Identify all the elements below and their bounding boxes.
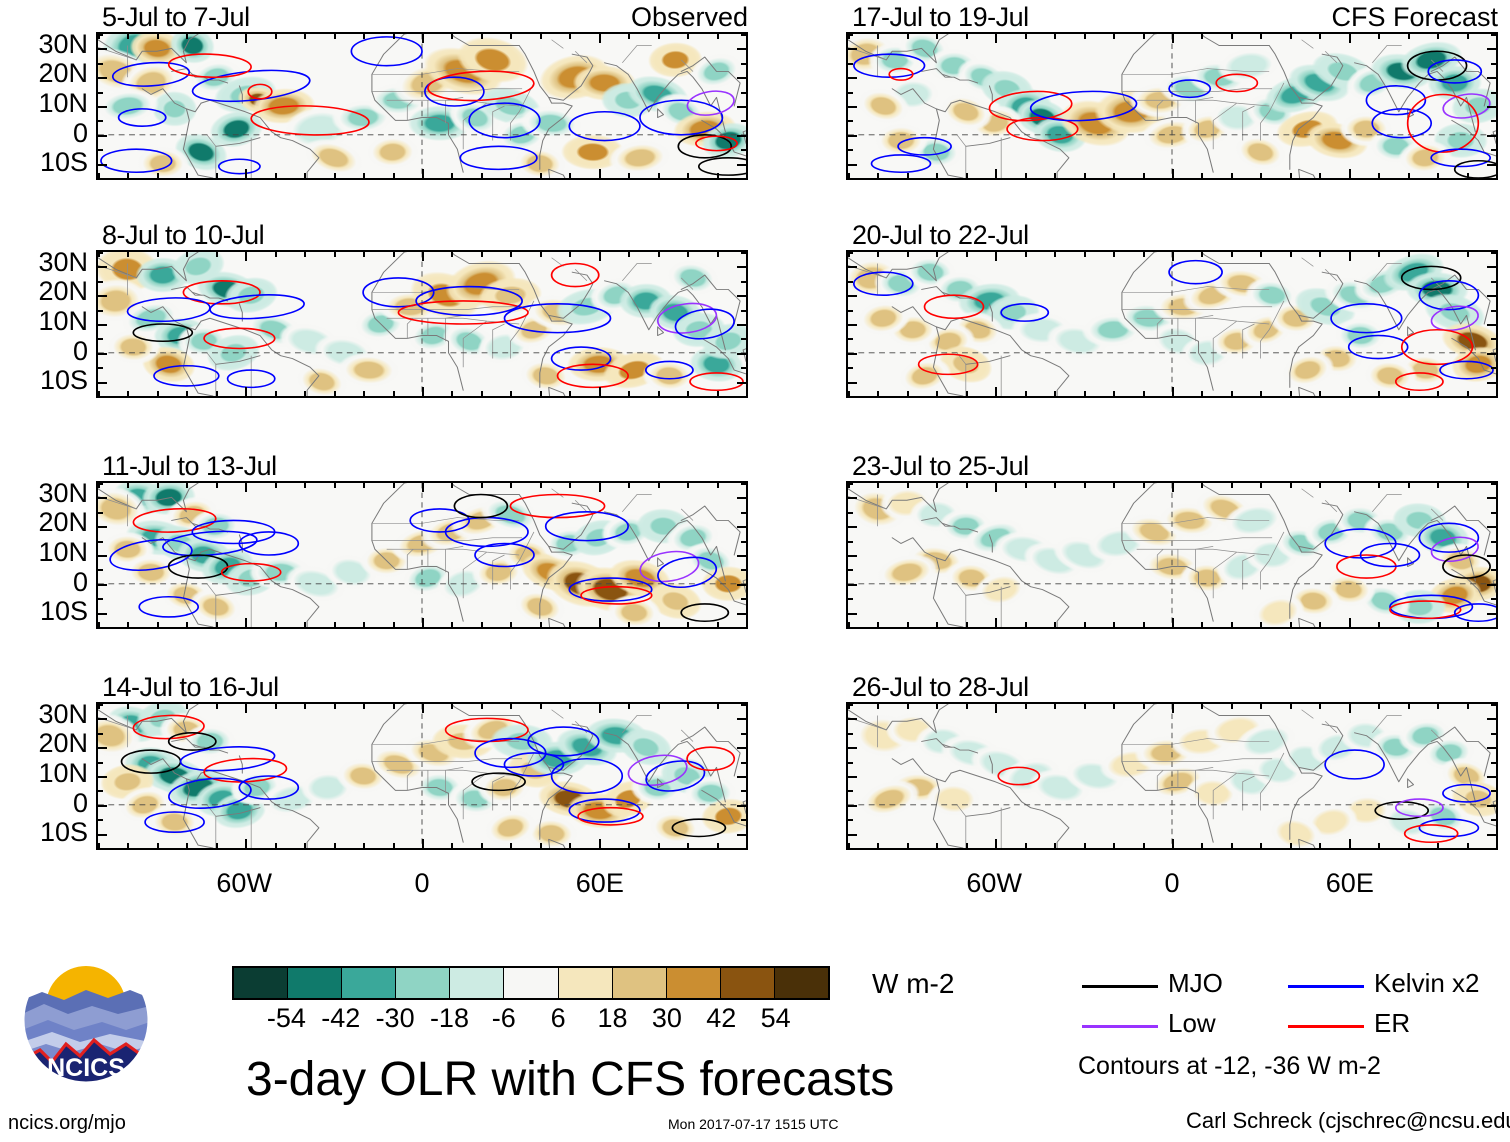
panel-title: 14-Jul to 16-Jul bbox=[102, 672, 279, 703]
panel-title: 20-Jul to 22-Jul bbox=[852, 220, 1029, 251]
colorbar-segment-8 bbox=[667, 968, 721, 998]
legend-label-er: ER bbox=[1374, 1008, 1410, 1039]
legend-label-mjo: MJO bbox=[1168, 968, 1223, 999]
legend-swatch-low bbox=[1082, 1025, 1158, 1028]
x-axis-label: 60W bbox=[189, 868, 299, 899]
panel-title: 11-Jul to 13-Jul bbox=[102, 451, 277, 482]
y-axis-label: 10N bbox=[0, 88, 88, 119]
y-axis-label: 20N bbox=[0, 507, 88, 538]
colorbar-segment-4 bbox=[450, 968, 504, 998]
legend-swatch-er bbox=[1288, 1025, 1364, 1028]
x-axis-label: 0 bbox=[367, 868, 477, 899]
colorbar-segment-0 bbox=[234, 968, 288, 998]
y-axis-label: 30N bbox=[0, 29, 88, 60]
colorbar-units-label: W m-2 bbox=[872, 968, 954, 1000]
y-axis-label: 0 bbox=[0, 118, 88, 149]
y-axis-label: 30N bbox=[0, 247, 88, 278]
map-8-jul-to-10-jul bbox=[96, 250, 748, 398]
x-axis-label: 0 bbox=[1117, 868, 1227, 899]
y-axis-label: 10S bbox=[0, 596, 88, 627]
contour-note: Contours at -12, -36 W m-2 bbox=[1078, 1052, 1381, 1081]
column-header-forecast: CFS Forecast bbox=[846, 2, 1498, 33]
site-url: ncics.org/mjo bbox=[8, 1112, 126, 1135]
colorbar-segment-5 bbox=[504, 968, 558, 998]
y-axis-label: 10N bbox=[0, 758, 88, 789]
colorbar-segment-7 bbox=[613, 968, 667, 998]
map-14-jul-to-16-jul bbox=[96, 702, 748, 850]
map-17-jul-to-19-jul bbox=[846, 32, 1498, 180]
panel-title: 23-Jul to 25-Jul bbox=[852, 451, 1029, 482]
y-axis-label: 10S bbox=[0, 147, 88, 178]
y-axis-label: 10N bbox=[0, 537, 88, 568]
colorbar-segment-3 bbox=[396, 968, 450, 998]
y-axis-label: 0 bbox=[0, 567, 88, 598]
panel-title: 8-Jul to 10-Jul bbox=[102, 220, 264, 251]
y-axis-label: 10N bbox=[0, 306, 88, 337]
legend-label-low: Low bbox=[1168, 1008, 1216, 1039]
panel-title: 26-Jul to 28-Jul bbox=[852, 672, 1029, 703]
map-26-jul-to-28-jul bbox=[846, 702, 1498, 850]
y-axis-label: 0 bbox=[0, 788, 88, 819]
colorbar-segment-2 bbox=[342, 968, 396, 998]
map-20-jul-to-22-jul bbox=[846, 250, 1498, 398]
colorbar-segment-1 bbox=[288, 968, 342, 998]
legend-swatch-mjo bbox=[1082, 985, 1158, 988]
map-11-jul-to-13-jul bbox=[96, 481, 748, 629]
ncics-logo: NCICS bbox=[22, 956, 150, 1084]
colorbar-segment-10 bbox=[775, 968, 828, 998]
y-axis-label: 30N bbox=[0, 478, 88, 509]
y-axis-label: 10S bbox=[0, 817, 88, 848]
map-5-jul-to-7-jul bbox=[96, 32, 748, 180]
x-axis-label: 60W bbox=[939, 868, 1049, 899]
colorbar-tick: 54 bbox=[736, 1003, 816, 1034]
y-axis-label: 20N bbox=[0, 276, 88, 307]
x-axis-label: 60E bbox=[545, 868, 655, 899]
y-axis-label: 20N bbox=[0, 58, 88, 89]
colorbar-segment-6 bbox=[559, 968, 613, 998]
legend-label-kelvin-x2: Kelvin x2 bbox=[1374, 968, 1480, 999]
legend-swatch-kelvin-x2 bbox=[1288, 985, 1364, 988]
y-axis-label: 30N bbox=[0, 699, 88, 730]
y-axis-label: 10S bbox=[0, 365, 88, 396]
y-axis-label: 0 bbox=[0, 336, 88, 367]
y-axis-label: 20N bbox=[0, 728, 88, 759]
author-contact: Carl Schreck (cjschrec@ncsu.edu) bbox=[1186, 1108, 1510, 1134]
map-23-jul-to-25-jul bbox=[846, 481, 1498, 629]
logo-text: NCICS bbox=[47, 1054, 125, 1082]
x-axis-label: 60E bbox=[1295, 868, 1405, 899]
figure-title: 3-day OLR with CFS forecasts bbox=[246, 1052, 894, 1107]
colorbar bbox=[232, 966, 830, 1000]
column-header-observed: Observed bbox=[96, 2, 748, 33]
colorbar-segment-9 bbox=[721, 968, 775, 998]
timestamp: Mon 2017-07-17 1515 UTC bbox=[668, 1116, 838, 1132]
